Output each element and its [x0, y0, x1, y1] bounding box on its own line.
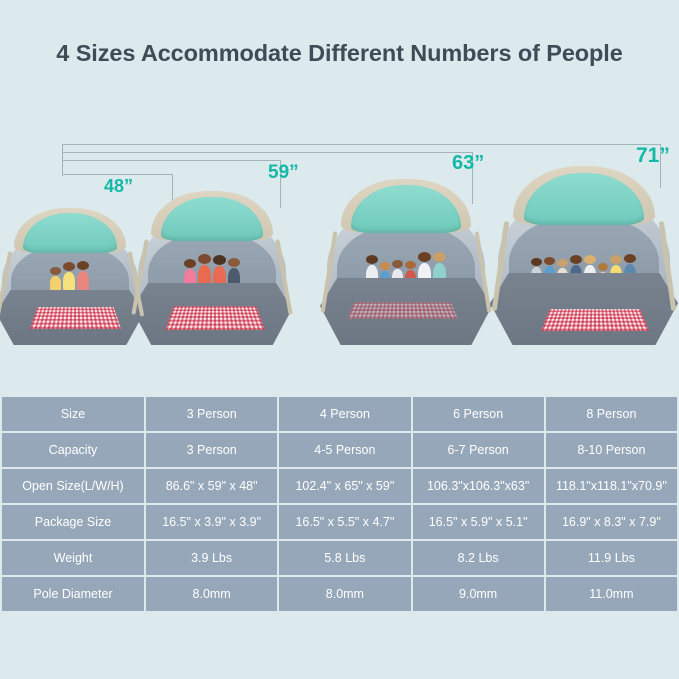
tent-comparison-illustration: 48” — [0, 130, 679, 345]
table-cell: 8 Person — [546, 397, 677, 431]
occupant-head — [598, 263, 608, 271]
table-cell: 118.1"x118.1"x70.9" — [546, 469, 677, 503]
occupant-head — [584, 255, 596, 264]
tent-4-person — [132, 197, 292, 345]
row-label: Weight — [2, 541, 144, 575]
table-row: Pole Diameter 8.0mm 8.0mm 9.0mm 11.0mm — [2, 577, 677, 611]
table-row: Package Size 16.5" x 3.9" x 3.9" 16.5" x… — [2, 505, 677, 539]
table-cell: 16.9" x 8.3" x 7.9" — [546, 505, 677, 539]
occupant-head — [213, 255, 226, 265]
row-label: Size — [2, 397, 144, 431]
picnic-mat — [30, 307, 121, 329]
occupant-head — [544, 257, 555, 265]
occupant — [50, 267, 61, 292]
picnic-mat — [166, 307, 265, 331]
row-label: Open Size(L/W/H) — [2, 469, 144, 503]
table-cell: 6-7 Person — [413, 433, 544, 467]
height-label-4-person: 59” — [268, 162, 299, 184]
occupant-head — [198, 254, 211, 264]
height-label-3-person: 48” — [104, 176, 133, 197]
table-cell: 11.9 Lbs — [546, 541, 677, 575]
table-row: Capacity 3 Person 4-5 Person 6-7 Person … — [2, 433, 677, 467]
guide-line-vertical-left — [62, 144, 63, 176]
guide-line-59 — [62, 160, 280, 161]
occupant-head — [557, 259, 568, 267]
occupant-head — [570, 255, 582, 264]
table-cell: 8-10 Person — [546, 433, 677, 467]
table-cell: 11.0mm — [546, 577, 677, 611]
occupant-head — [392, 260, 403, 268]
occupant-head — [433, 252, 446, 262]
table-cell: 106.3"x106.3"x63" — [413, 469, 544, 503]
height-label-8-person: 71” — [636, 144, 670, 168]
occupant-body — [77, 271, 89, 292]
spec-table: Size 3 Person 4 Person 6 Person 8 Person… — [0, 395, 679, 613]
tent-occupants — [29, 258, 112, 292]
table-cell: 4 Person — [279, 397, 410, 431]
occupant — [63, 262, 75, 292]
table-cell: 16.5" x 5.5" x 4.7" — [279, 505, 410, 539]
picnic-mat — [347, 303, 457, 319]
table-row: Size 3 Person 4 Person 6 Person 8 Person — [2, 397, 677, 431]
table-cell: 86.6" x 59" x 48" — [146, 469, 277, 503]
occupant-head — [366, 255, 378, 264]
table-cell: 16.5" x 5.9" x 5.1" — [413, 505, 544, 539]
tent-3-person — [0, 213, 144, 345]
table-cell: 6 Person — [413, 397, 544, 431]
occupant-head — [418, 252, 431, 262]
table-cell: 3 Person — [146, 433, 277, 467]
table-cell: 3.9 Lbs — [146, 541, 277, 575]
table-cell: 8.0mm — [146, 577, 277, 611]
occupant-head — [624, 254, 636, 263]
table-cell: 102.4" x 65" x 59" — [279, 469, 410, 503]
tent-6-person — [320, 185, 492, 345]
row-label: Package Size — [2, 505, 144, 539]
table-row: Weight 3.9 Lbs 5.8 Lbs 8.2 Lbs 11.9 Lbs — [2, 541, 677, 575]
occupant-head — [228, 258, 240, 267]
occupant-head — [380, 262, 390, 270]
table-cell: 3 Person — [146, 397, 277, 431]
occupant-body — [63, 272, 75, 292]
picnic-mat — [542, 309, 649, 331]
row-label: Capacity — [2, 433, 144, 467]
table-cell: 9.0mm — [413, 577, 544, 611]
occupant — [77, 261, 89, 292]
row-label: Pole Diameter — [2, 577, 144, 611]
occupant-head — [63, 262, 75, 271]
guide-line-63 — [62, 152, 472, 153]
table-row: Open Size(L/W/H) 86.6" x 59" x 48" 102.4… — [2, 469, 677, 503]
occupant-head — [610, 255, 622, 264]
table-cell: 8.0mm — [279, 577, 410, 611]
occupant-head — [50, 267, 61, 275]
occupant-head — [531, 258, 542, 266]
occupant-head — [405, 261, 416, 269]
table-cell: 8.2 Lbs — [413, 541, 544, 575]
occupant-head — [184, 259, 196, 268]
table-cell: 5.8 Lbs — [279, 541, 410, 575]
guide-line-48 — [62, 174, 172, 175]
occupant-head — [77, 261, 89, 270]
table-cell: 4-5 Person — [279, 433, 410, 467]
table-cell: 16.5" x 3.9" x 3.9" — [146, 505, 277, 539]
page-title: 4 Sizes Accommodate Different Numbers of… — [0, 40, 679, 67]
height-label-6-person: 63” — [452, 152, 484, 175]
guide-line-71 — [62, 144, 660, 145]
tent-8-person — [490, 173, 678, 345]
